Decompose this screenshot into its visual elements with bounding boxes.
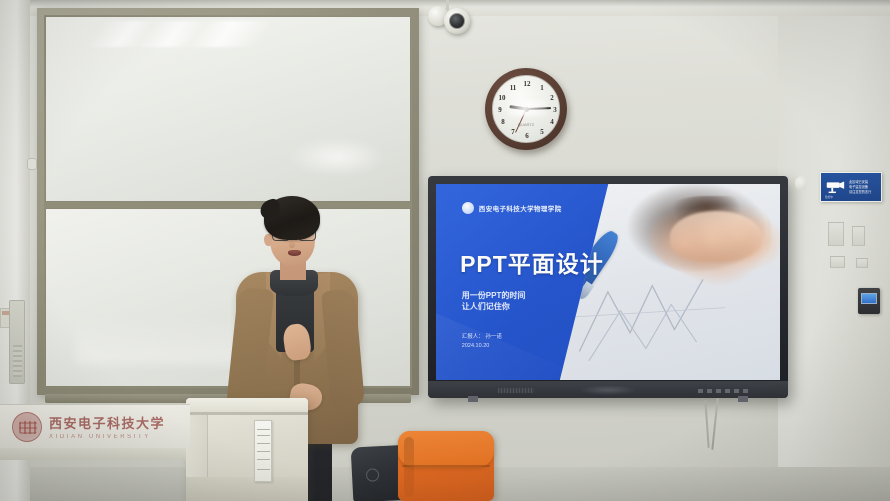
clock-numeral: 12: [522, 80, 532, 88]
backpack-strap: [404, 437, 414, 497]
slide-meta: 汇报人： 孙一诺 2024.10.20: [462, 333, 502, 351]
photo-drawn-lines: [573, 270, 732, 364]
orange-backpack: [398, 431, 494, 501]
photo-knuckles: [670, 211, 762, 262]
university-banner: 西安电子科技大学 XIDIAN UNIVERSITY: [0, 404, 190, 448]
slide-title: PPT平面设计: [460, 245, 604, 279]
presenter-ear: [264, 234, 272, 246]
wall-outlet[interactable]: [828, 222, 844, 246]
cctv-line-2: 电子监控设备: [849, 185, 871, 189]
display-brand-logo: [579, 385, 637, 395]
lectern-top-surface: [186, 398, 308, 412]
banner-lower-strip: [0, 448, 186, 460]
ceiling-shadow: [0, 0, 890, 7]
wall-outlet[interactable]: [852, 226, 865, 246]
university-seal-icon: [12, 412, 42, 442]
control-panel-display: [861, 293, 877, 304]
wall-outlet[interactable]: [830, 256, 845, 268]
display-bottom-bezel: [428, 381, 788, 398]
display-button[interactable]: [725, 389, 730, 393]
lectern-top-edge: [186, 412, 308, 415]
slide-photo: [560, 184, 780, 380]
clock-numeral: 11: [508, 84, 518, 92]
clock-face: 12 1 2 3 4 5 6 7 8 9 10 11 QUARTZ: [492, 75, 560, 143]
wall-speaker-icon: [795, 176, 807, 190]
smart-interactive-display[interactable]: 西安电子科技大学物理学院 PPT平面设计 用一份PPT的时间 让人们记住你 汇报…: [428, 176, 788, 398]
display-button[interactable]: [743, 389, 748, 393]
display-button[interactable]: [698, 389, 703, 393]
slide-logo-row: 西安电子科技大学物理学院: [462, 202, 562, 214]
clock-numeral: 6: [522, 132, 532, 140]
cctv-line-1: 此区域已安装: [849, 180, 871, 184]
clock-numeral: 10: [497, 94, 507, 102]
banner-text: 西安电子科技大学 XIDIAN UNIVERSITY: [49, 413, 165, 440]
display-mount-left: [468, 396, 478, 402]
equipment-label: [254, 420, 272, 482]
presentation-slide: 西安电子科技大学物理学院 PPT平面设计 用一份PPT的时间 让人们记住你 汇报…: [436, 184, 780, 380]
display-button[interactable]: [716, 389, 721, 393]
slide-subtitle-line1: 用一份PPT的时间: [462, 290, 526, 301]
wall-clock: 12 1 2 3 4 5 6 7 8 9 10 11 QUARTZ: [485, 68, 567, 150]
camera-mount-arm: [446, 0, 449, 10]
display-screen[interactable]: 西安电子科技大学物理学院 PPT平面设计 用一份PPT的时间 让人们记住你 汇报…: [436, 184, 780, 380]
clock-numeral: 2: [547, 94, 557, 102]
classroom-photo-scene: 12 1 2 3 4 5 6 7 8 9 10 11 QUARTZ: [0, 0, 890, 501]
clock-glass-glare: [507, 100, 547, 116]
slide-date: 2024.10.20: [462, 342, 502, 351]
bag-buckle: [366, 468, 380, 482]
lectern-cabinet: [186, 398, 308, 501]
clock-numeral: 9: [495, 106, 505, 114]
backpack-seam: [402, 465, 490, 467]
surveillance-notice-sign: 此区域已安装 电子监控设备 请注意您的言行 监控中: [820, 172, 882, 202]
display-speaker-grille: [498, 388, 534, 393]
cctv-camera-icon: [824, 179, 846, 195]
presenter-mouth: [288, 250, 301, 256]
display-control-buttons[interactable]: [698, 388, 776, 393]
clock-numeral: 8: [498, 118, 508, 126]
cctv-footer-text: 监控中: [825, 195, 833, 199]
wall-panel-left[interactable]: [9, 300, 25, 384]
cctv-line-3: 请注意您的言行: [849, 190, 871, 194]
cctv-sign-text: 此区域已安装 电子监控设备 请注意您的言行: [849, 180, 871, 194]
wall-control-panel[interactable]: [858, 288, 880, 314]
display-button[interactable]: [734, 389, 739, 393]
clock-numeral: 4: [547, 118, 557, 126]
clock-numeral: 3: [550, 106, 560, 114]
banner-chinese-name: 西安电子科技大学: [49, 413, 165, 432]
slide-subtitle-line2: 让人们记住你: [462, 301, 526, 312]
university-logo-icon: [462, 202, 474, 214]
slide-subtitle: 用一份PPT的时间 让人们记住你: [462, 290, 526, 312]
lectern-lower-cabinet: [186, 477, 308, 501]
clock-numeral: 5: [537, 128, 547, 136]
dome-camera-icon: [444, 8, 470, 34]
camera-lens: [449, 13, 465, 29]
slide-presenter: 汇报人： 孙一诺: [462, 333, 502, 342]
display-mount-right: [738, 396, 748, 402]
slide-organization: 西安电子科技大学物理学院: [479, 203, 562, 213]
clock-numeral: 1: [537, 84, 547, 92]
wall-right-section: [778, 0, 890, 501]
whiteboard-hinge: [27, 158, 37, 170]
banner-english-name: XIDIAN UNIVERSITY: [49, 434, 165, 440]
display-button[interactable]: [707, 389, 712, 393]
wall-outlet[interactable]: [856, 258, 868, 268]
